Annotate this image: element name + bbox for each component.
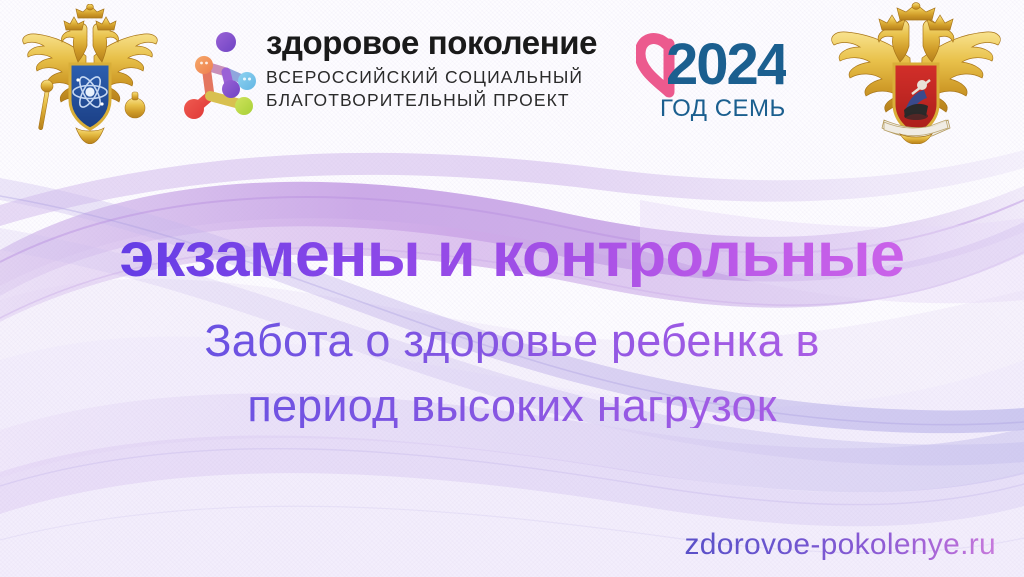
poster-root: здоровое поколение ВСЕРОССИЙСКИЙ СОЦИАЛЬ… xyxy=(0,0,1024,577)
site-url[interactable]: zdorovoe-pokolenye.ru xyxy=(685,528,997,562)
brand-title: здоровое поколение xyxy=(266,26,626,59)
year-of-family-2024-logo: 2024 ГОД СЕМЬИ xyxy=(636,22,786,126)
brand-text-block: здоровое поколение ВСЕРОССИЙСКИЙ СОЦИАЛЬ… xyxy=(266,26,626,112)
russian-double-headed-eagle-education-emblem-icon xyxy=(826,2,1006,144)
molecule-logo-icon xyxy=(182,24,268,124)
year-caption: ГОД СЕМЬИ xyxy=(660,95,786,122)
russian-double-headed-eagle-science-emblem-icon xyxy=(14,4,166,144)
header-logo-bar: здоровое поколение ВСЕРОССИЙСКИЙ СОЦИАЛЬ… xyxy=(0,0,1024,148)
brand-subtitle-line-1: ВСЕРОССИЙСКИЙ СОЦИАЛЬНЫЙ xyxy=(266,66,626,89)
year-number: 2024 xyxy=(666,32,786,97)
brand-subtitle-line-2: БЛАГОТВОРИТЕЛЬНЫЙ ПРОЕКТ xyxy=(266,89,626,112)
brand-subtitle: ВСЕРОССИЙСКИЙ СОЦИАЛЬНЫЙ БЛАГОТВОРИТЕЛЬН… xyxy=(266,66,626,112)
heart-icon xyxy=(640,39,669,92)
